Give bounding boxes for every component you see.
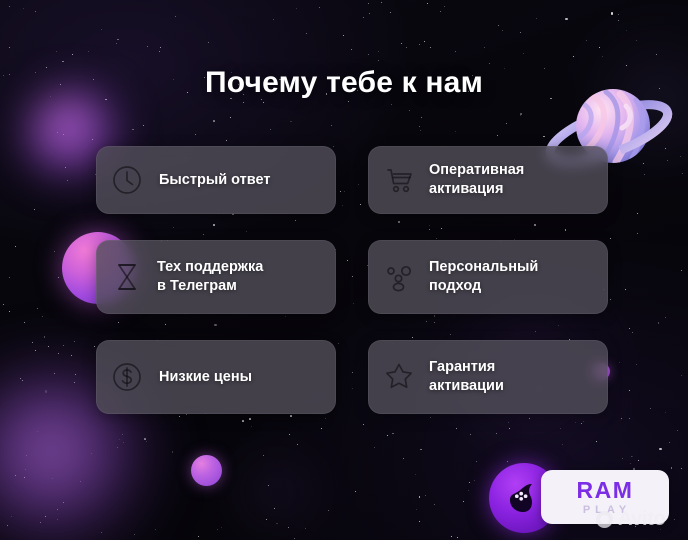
benefit-label: Гарантия активации <box>429 358 607 395</box>
benefit-label: Тех поддержка в Телеграм <box>157 258 335 295</box>
hourglass-icon <box>97 241 157 313</box>
dollar-icon <box>97 341 157 413</box>
sphere-bottom-center <box>191 455 222 486</box>
avito-label: Avito <box>618 509 665 529</box>
clock-icon <box>97 147 157 213</box>
logo-name: RAM <box>577 479 634 502</box>
avito-circle-icon <box>596 511 613 528</box>
benefits-grid: Быстрый ответ Оперативная активация Тех … <box>96 146 608 414</box>
benefit-label: Быстрый ответ <box>157 171 335 190</box>
page-title: Почему тебе к нам <box>0 66 688 100</box>
star-icon <box>369 341 429 413</box>
avito-watermark: Avito <box>596 506 665 532</box>
benefit-card-telegram-support[interactable]: Тех поддержка в Телеграм <box>96 240 336 314</box>
benefit-card-fast-reply[interactable]: Быстрый ответ <box>96 146 336 214</box>
benefit-card-low-prices[interactable]: Низкие цены <box>96 340 336 414</box>
benefit-label: Оперативная активация <box>429 161 607 198</box>
promo-banner: Почему тебе к нам Быстрый ответ Оператив… <box>0 0 688 540</box>
benefit-card-personal-approach[interactable]: Персональный подход <box>368 240 608 314</box>
benefit-label: Персональный подход <box>429 258 607 295</box>
benefit-label: Низкие цены <box>157 368 335 387</box>
benefit-card-fast-activation[interactable]: Оперативная активация <box>368 146 608 214</box>
cart-icon <box>369 147 429 213</box>
benefit-card-activation-guarantee[interactable]: Гарантия активации <box>368 340 608 414</box>
people-icon <box>369 241 429 313</box>
